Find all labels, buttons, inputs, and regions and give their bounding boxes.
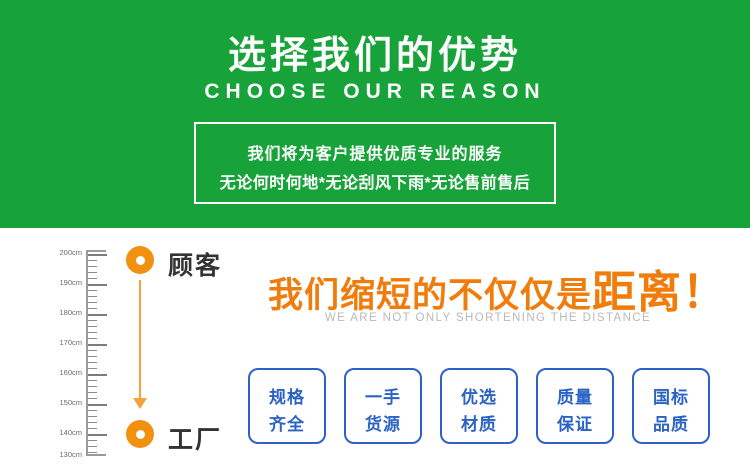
customer-label: 顾客 (168, 246, 222, 282)
ruler-graphic: 200cm 190cm 180cm 170cm 160cm 150cm 140c… (40, 250, 106, 456)
feature-box-4-line1: 质量 (538, 383, 612, 408)
banner-subtitle: CHOOSE OUR REASON (0, 80, 750, 104)
headline-text: 我们缩短的不仅仅是 (268, 276, 592, 315)
feature-box-5-line1: 国标 (634, 383, 708, 408)
ruler-label-6: 140cm (40, 428, 82, 437)
feature-box-2-line1: 一手 (346, 383, 420, 408)
factory-label: 工厂 (168, 420, 222, 456)
feature-box-5: 国标 品质 (632, 368, 710, 444)
ruler-label-7: 130cm (40, 450, 82, 459)
ruler-label-2: 180cm (40, 308, 82, 317)
promo-graphic: 选择我们的优势 CHOOSE OUR REASON 我们将为客户提供优质专业的服… (0, 0, 750, 466)
banner-title: 选择我们的优势 (0, 24, 750, 79)
ruler-label-4: 160cm (40, 368, 82, 377)
headline-english: WE ARE NOT ONLY SHORTENING THE DISTANCE (268, 312, 708, 324)
lower-section: 200cm 190cm 180cm 170cm 160cm 150cm 140c… (0, 228, 750, 466)
ruler-label-5: 150cm (40, 398, 82, 407)
feature-box-2-line2: 货源 (346, 410, 420, 435)
feature-box-3: 优选 材质 (440, 368, 518, 444)
banner-message-line-2: 无论何时何地*无论刮风下雨*无论售前售后 (196, 169, 554, 193)
arrow-down-icon (133, 398, 147, 409)
ruler-label-1: 190cm (40, 278, 82, 287)
headline-emphasis: 距离！ (592, 268, 727, 317)
connector-line (139, 280, 141, 402)
feature-box-1: 规格 齐全 (248, 368, 326, 444)
ruler-label-0: 200cm (40, 248, 82, 257)
ruler-bar (86, 250, 106, 456)
feature-box-1-line1: 规格 (250, 383, 324, 408)
green-banner: 选择我们的优势 CHOOSE OUR REASON 我们将为客户提供优质专业的服… (0, 0, 750, 228)
map-pin-icon-factory (126, 420, 154, 458)
feature-box-5-line2: 品质 (634, 410, 708, 435)
feature-box-4-line2: 保证 (538, 410, 612, 435)
feature-box-4: 质量 保证 (536, 368, 614, 444)
feature-box-list: 规格 齐全 一手 货源 优选 材质 质量 保证 国标 品质 (248, 368, 728, 448)
banner-message-line-1: 我们将为客户提供优质专业的服务 (196, 140, 554, 164)
headline: 我们缩短的不仅仅是距离！ (268, 256, 727, 320)
ruler-label-3: 170cm (40, 338, 82, 347)
feature-box-3-line2: 材质 (442, 410, 516, 435)
feature-box-1-line2: 齐全 (250, 410, 324, 435)
banner-message-box: 我们将为客户提供优质专业的服务 无论何时何地*无论刮风下雨*无论售前售后 (194, 122, 556, 204)
feature-box-3-line1: 优选 (442, 383, 516, 408)
feature-box-2: 一手 货源 (344, 368, 422, 444)
map-pin-icon-customer (126, 246, 154, 284)
